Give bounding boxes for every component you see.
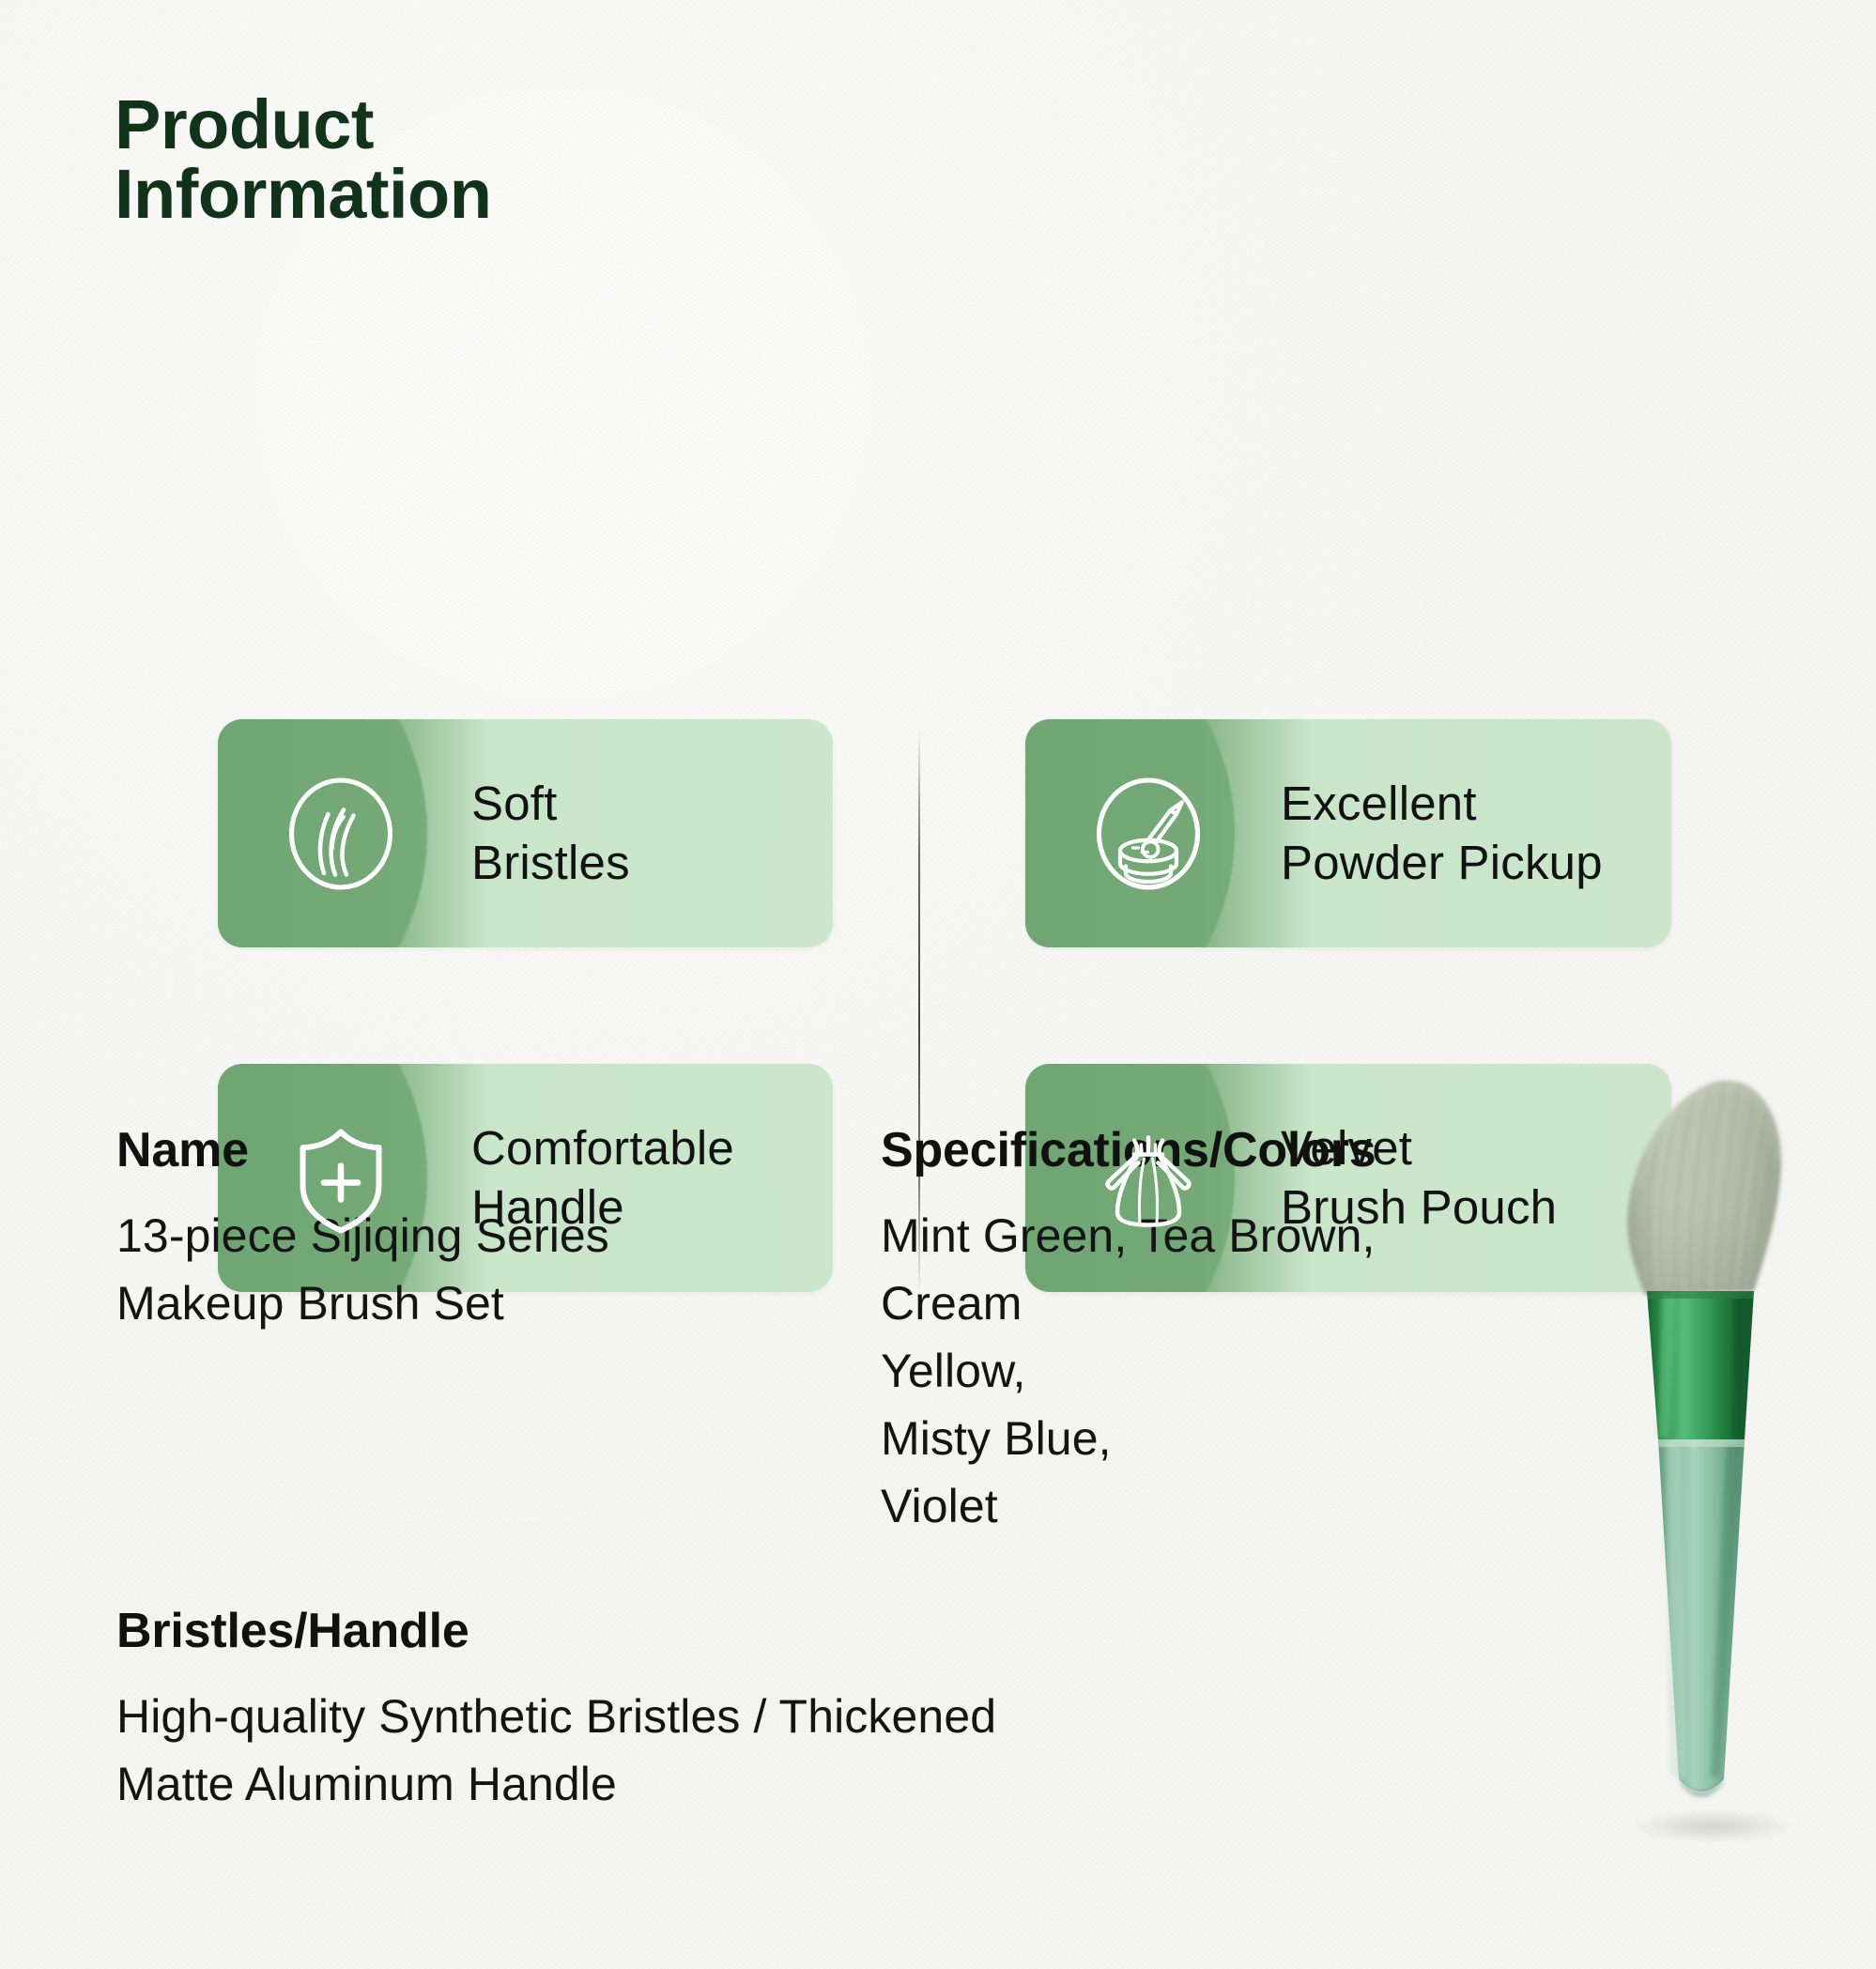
spec-value-colors-line2-b: Yellow, bbox=[881, 1337, 1538, 1405]
badge-label-line1: Velvet bbox=[1281, 1119, 1557, 1177]
spec-value-material-line2: Matte Aluminum Handle bbox=[116, 1750, 1337, 1818]
spec-value-colors-line2: CreamYellow, bbox=[881, 1269, 1538, 1405]
badge-label-line1: Excellent bbox=[1281, 775, 1603, 833]
spec-block-material: Bristles/Handle High-quality Synthetic B… bbox=[116, 1605, 1337, 1818]
badge-label-line1: Comfortable bbox=[471, 1119, 734, 1177]
badge-label-line1: Soft bbox=[471, 775, 630, 833]
makeup-brush-photo bbox=[1545, 1066, 1855, 1892]
soft-bristles-icon bbox=[218, 763, 464, 904]
feature-badge-grid: Soft Bristles Excellent bbox=[0, 360, 1876, 942]
feature-badge-label: Soft Bristles bbox=[464, 775, 630, 891]
feature-badge-soft-bristles[interactable]: Soft Bristles bbox=[218, 719, 833, 947]
feature-badge-label: Velvet Brush Pouch bbox=[1271, 1119, 1557, 1236]
shield-plus-icon bbox=[218, 1108, 464, 1249]
badge-label-line2: Handle bbox=[471, 1178, 734, 1237]
powder-pickup-icon bbox=[1025, 763, 1271, 904]
page-title: Product Information bbox=[115, 90, 772, 229]
spec-value-colors: Mint Green, Tea Brown, CreamYellow, Mist… bbox=[881, 1202, 1538, 1540]
page-title-line2: Information bbox=[115, 160, 772, 229]
feature-badge-powder-pickup[interactable]: Excellent Powder Pickup bbox=[1025, 719, 1671, 947]
badge-label-line2: Powder Pickup bbox=[1281, 834, 1603, 892]
spec-value-colors-line3: Misty Blue, bbox=[881, 1405, 1538, 1472]
spec-value-colors-line2-a: Cream bbox=[881, 1269, 1099, 1337]
badge-label-line2: Brush Pouch bbox=[1281, 1178, 1557, 1237]
spec-heading-material: Bristles/Handle bbox=[116, 1605, 1337, 1658]
drawstring-pouch-icon bbox=[1025, 1108, 1271, 1249]
feature-badge-label: Excellent Powder Pickup bbox=[1271, 775, 1603, 891]
spec-value-colors-line4: Violet bbox=[881, 1472, 1538, 1540]
feature-badge-label: Comfortable Handle bbox=[464, 1119, 734, 1236]
spec-value-name-line2: Makeup Brush Set bbox=[116, 1269, 849, 1337]
page-title-line1: Product bbox=[115, 85, 374, 163]
badge-label-line2: Bristles bbox=[471, 834, 630, 892]
product-information-page: Product Information Soft Bristles bbox=[0, 0, 1876, 1969]
spec-value-material-line1: High-quality Synthetic Bristles / Thicke… bbox=[116, 1683, 1337, 1750]
spec-value-material: High-quality Synthetic Bristles / Thicke… bbox=[116, 1683, 1337, 1818]
